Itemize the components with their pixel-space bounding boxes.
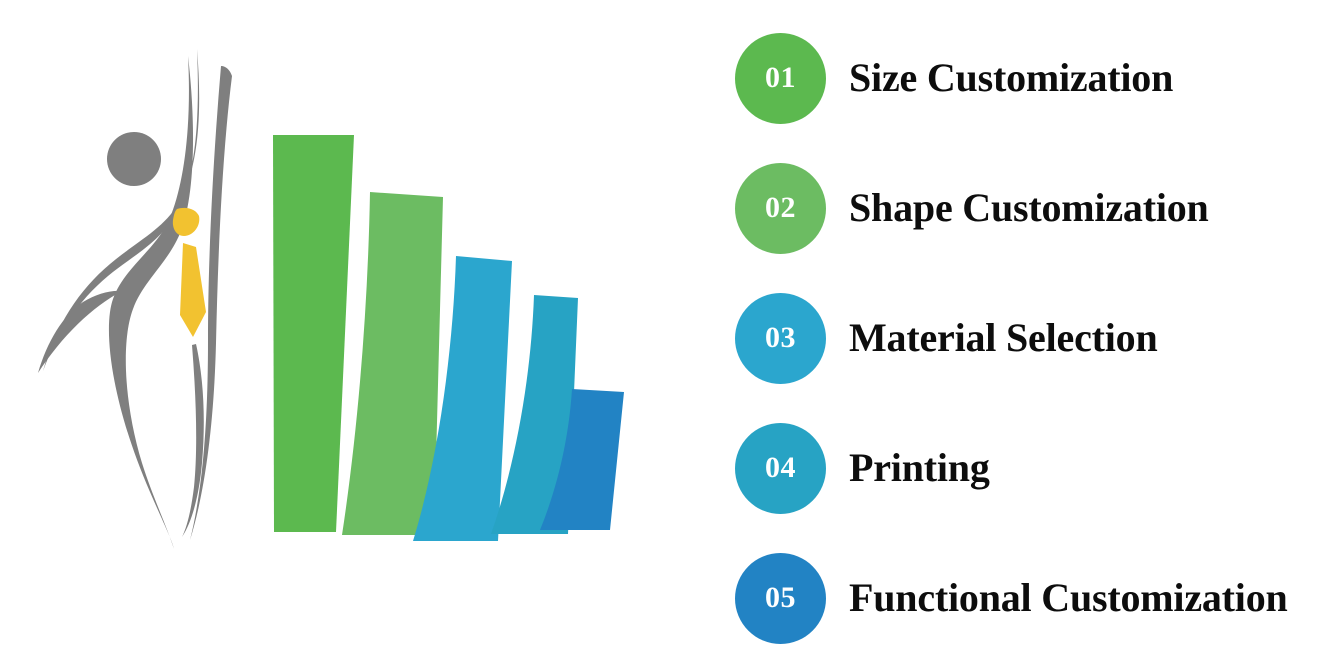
chart-bar-1 [273, 135, 354, 532]
step-label-4: Printing [849, 447, 990, 489]
step-label-5: Functional Customization [849, 577, 1288, 619]
step-label-2: Shape Customization [849, 187, 1209, 229]
step-item-4[interactable]: 04 Printing [735, 403, 1317, 533]
illustration-panel [0, 0, 700, 642]
step-number-badge-1: 01 [735, 33, 826, 124]
step-label-3: Material Selection [849, 317, 1158, 359]
step-item-3[interactable]: 03 Material Selection [735, 273, 1317, 403]
figure-tie-blade-icon [180, 243, 206, 337]
step-number-badge-4: 04 [735, 423, 826, 514]
figure-head-icon [107, 132, 161, 186]
figure-torso-curve-icon [109, 56, 193, 549]
step-number-1: 01 [765, 63, 796, 93]
infographic-canvas: 01 Size Customization 02 Shape Customiza… [0, 0, 1317, 642]
step-label-1: Size Customization [849, 57, 1173, 99]
step-item-1[interactable]: 01 Size Customization [735, 13, 1317, 143]
step-number-4: 04 [765, 453, 796, 483]
step-item-2[interactable]: 02 Shape Customization [735, 143, 1317, 273]
chart-bar-2 [342, 192, 443, 535]
figure-inner-sweep-icon [182, 344, 204, 537]
step-number-3: 03 [765, 323, 796, 353]
step-number-5: 05 [765, 583, 796, 613]
step-number-badge-3: 03 [735, 293, 826, 384]
figure-tie-knot-icon [173, 208, 199, 236]
step-number-badge-5: 05 [735, 553, 826, 644]
step-number-badge-2: 02 [735, 163, 826, 254]
step-number-2: 02 [765, 193, 796, 223]
step-item-5[interactable]: 05 Functional Customization [735, 533, 1317, 663]
steps-list: 01 Size Customization 02 Shape Customiza… [735, 0, 1317, 642]
